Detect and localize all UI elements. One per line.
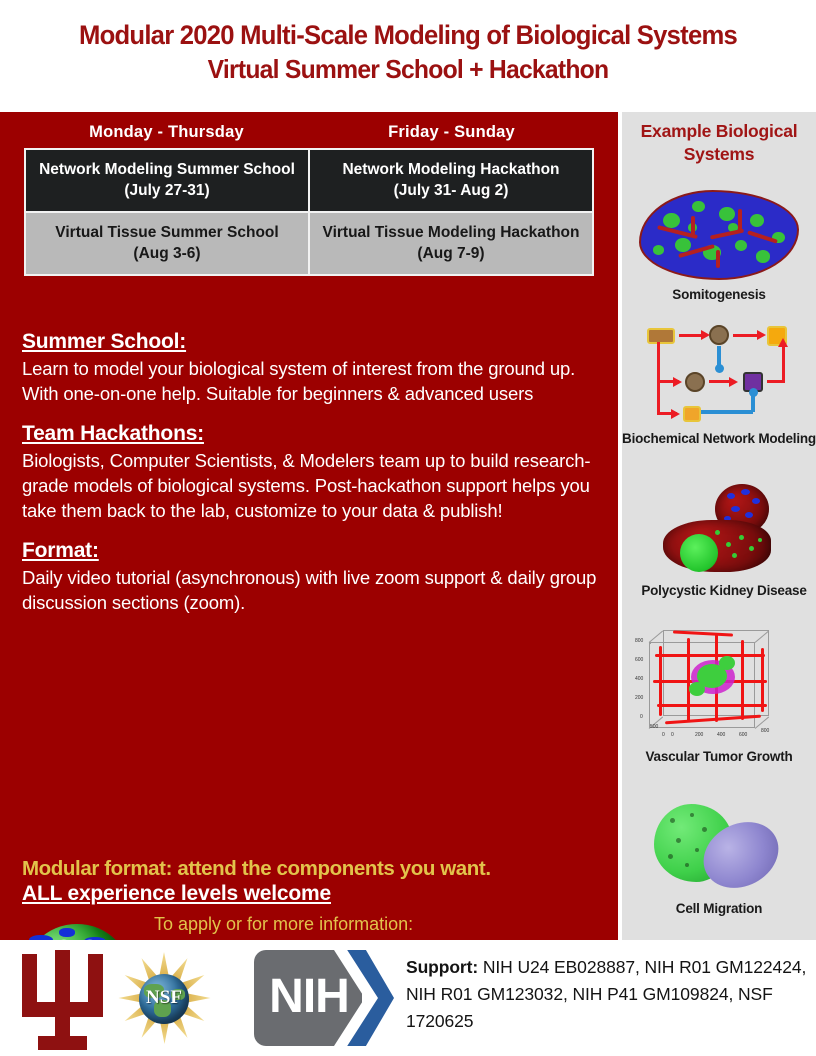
title-line-1: Modular 2020 Multi-Scale Modeling of Bio… [20, 18, 795, 52]
schedule-column-header-2: Friday - Sunday [309, 120, 594, 148]
nih-logo-icon: NIH [254, 950, 394, 1046]
tumor-xtick-0: 0 [671, 732, 674, 738]
footer: NSF NIH Support: NIH U24 EB028887, NIH R… [0, 940, 816, 1056]
schedule-cell-name: Virtual Tissue Modeling Hackathon [316, 222, 586, 243]
schedule-cell-dates: (July 27-31) [32, 180, 302, 201]
poster: Modular 2020 Multi-Scale Modeling of Bio… [0, 0, 816, 1056]
sidebar-caption: Vascular Tumor Growth [622, 748, 816, 765]
schedule-cell-tissue-summer-school: Virtual Tissue Summer School (Aug 3-6) [26, 213, 308, 274]
sidebar-item-cell-migration: Cell Migration [622, 800, 816, 917]
sidebar-caption: Somitogenesis [622, 286, 816, 303]
section-format: Format: Daily video tutorial (asynchrono… [22, 539, 602, 615]
sidebar-item-kidney: Polycystic Kidney Disease [622, 482, 816, 599]
section-heading: Team Hackathons: [22, 422, 602, 446]
nih-logo-text: NIH [262, 972, 356, 1022]
tumor-ytick-0: 0 [640, 714, 643, 720]
tumor-ztick-500: 500 [650, 724, 658, 730]
contact-lead: To apply or for more information: [154, 912, 604, 938]
body-copy: Summer School: Learn to model your biolo… [22, 330, 602, 631]
cell-migration-icon [644, 800, 794, 896]
nsf-logo-text: NSF [112, 988, 216, 1007]
tumor-ytick-200: 200 [635, 695, 643, 701]
schedule-cell-dates: (July 31- Aug 2) [316, 180, 586, 201]
schedule-cell-dates: (Aug 7-9) [316, 243, 586, 264]
kidney-icon [639, 482, 799, 580]
tumor-plot-icon: 800 600 400 200 0 0 200 400 600 800 500 … [635, 624, 803, 746]
tumor-xtick-600: 600 [739, 732, 747, 738]
title-line-2: Virtual Summer School + Hackathon [20, 52, 795, 86]
sidebar-example-systems: Example Biological Systems [622, 112, 816, 940]
schedule-cell-name: Virtual Tissue Summer School [32, 222, 302, 243]
schedule-cell-name: Network Modeling Hackathon [316, 159, 586, 180]
indiana-university-trident-icon [14, 948, 110, 1048]
section-body: Daily video tutorial (asynchronous) with… [22, 565, 602, 615]
support-label: Support: [406, 957, 478, 977]
sidebar-caption: Cell Migration [622, 900, 816, 917]
section-summer-school: Summer School: Learn to model your biolo… [22, 330, 602, 406]
tumor-xtick-800: 800 [761, 728, 769, 734]
tumor-ztick-0: 0 [662, 732, 665, 738]
nsf-seal-icon: NSF [112, 950, 216, 1046]
sidebar-item-biochemical-network: Biochemical Network Modeling [622, 320, 816, 447]
tagline-modular-format: Modular format: attend the components yo… [22, 857, 612, 881]
tumor-xtick-200: 200 [695, 732, 703, 738]
sidebar-title: Example Biological Systems [622, 120, 816, 166]
schedule-header-row: Monday - Thursday Friday - Sunday [24, 120, 594, 148]
poster-title: Modular 2020 Multi-Scale Modeling of Bio… [0, 18, 816, 86]
biochemical-network-icon [639, 320, 799, 428]
somitogenesis-icon [639, 190, 799, 280]
section-team-hackathons: Team Hackathons: Biologists, Computer Sc… [22, 422, 602, 523]
schedule-column-header-1: Monday - Thursday [24, 120, 309, 148]
tagline-all-levels-welcome: ALL experience levels welcome [22, 882, 612, 906]
tumor-ytick-600: 600 [635, 657, 643, 663]
schedule-table: Monday - Thursday Friday - Sunday Networ… [24, 120, 594, 276]
sidebar-item-vascular-tumor: 800 600 400 200 0 0 200 400 600 800 500 … [622, 624, 816, 765]
sidebar-caption: Biochemical Network Modeling [622, 430, 816, 447]
section-body: Learn to model your biological system of… [22, 356, 602, 406]
section-body: Biologists, Computer Scientists, & Model… [22, 448, 602, 523]
support-text: Support: NIH U24 EB028887, NIH R01 GM122… [406, 954, 810, 1035]
schedule-grid: Network Modeling Summer School (July 27-… [24, 148, 594, 276]
sidebar-item-somitogenesis: Somitogenesis [622, 190, 816, 303]
sidebar-caption: Polycystic Kidney Disease [632, 582, 816, 599]
tumor-ytick-400: 400 [635, 676, 643, 682]
section-heading: Format: [22, 539, 602, 563]
schedule-cell-network-hackathon: Network Modeling Hackathon (July 31- Aug… [310, 150, 592, 211]
schedule-cell-tissue-hackathon: Virtual Tissue Modeling Hackathon (Aug 7… [310, 213, 592, 274]
section-heading: Summer School: [22, 330, 602, 354]
schedule-cell-name: Network Modeling Summer School [32, 159, 302, 180]
schedule-cell-network-summer-school: Network Modeling Summer School (July 27-… [26, 150, 308, 211]
main-red-panel: Monday - Thursday Friday - Sunday Networ… [0, 112, 618, 940]
tumor-ytick-800: 800 [635, 638, 643, 644]
tumor-xtick-400: 400 [717, 732, 725, 738]
schedule-cell-dates: (Aug 3-6) [32, 243, 302, 264]
